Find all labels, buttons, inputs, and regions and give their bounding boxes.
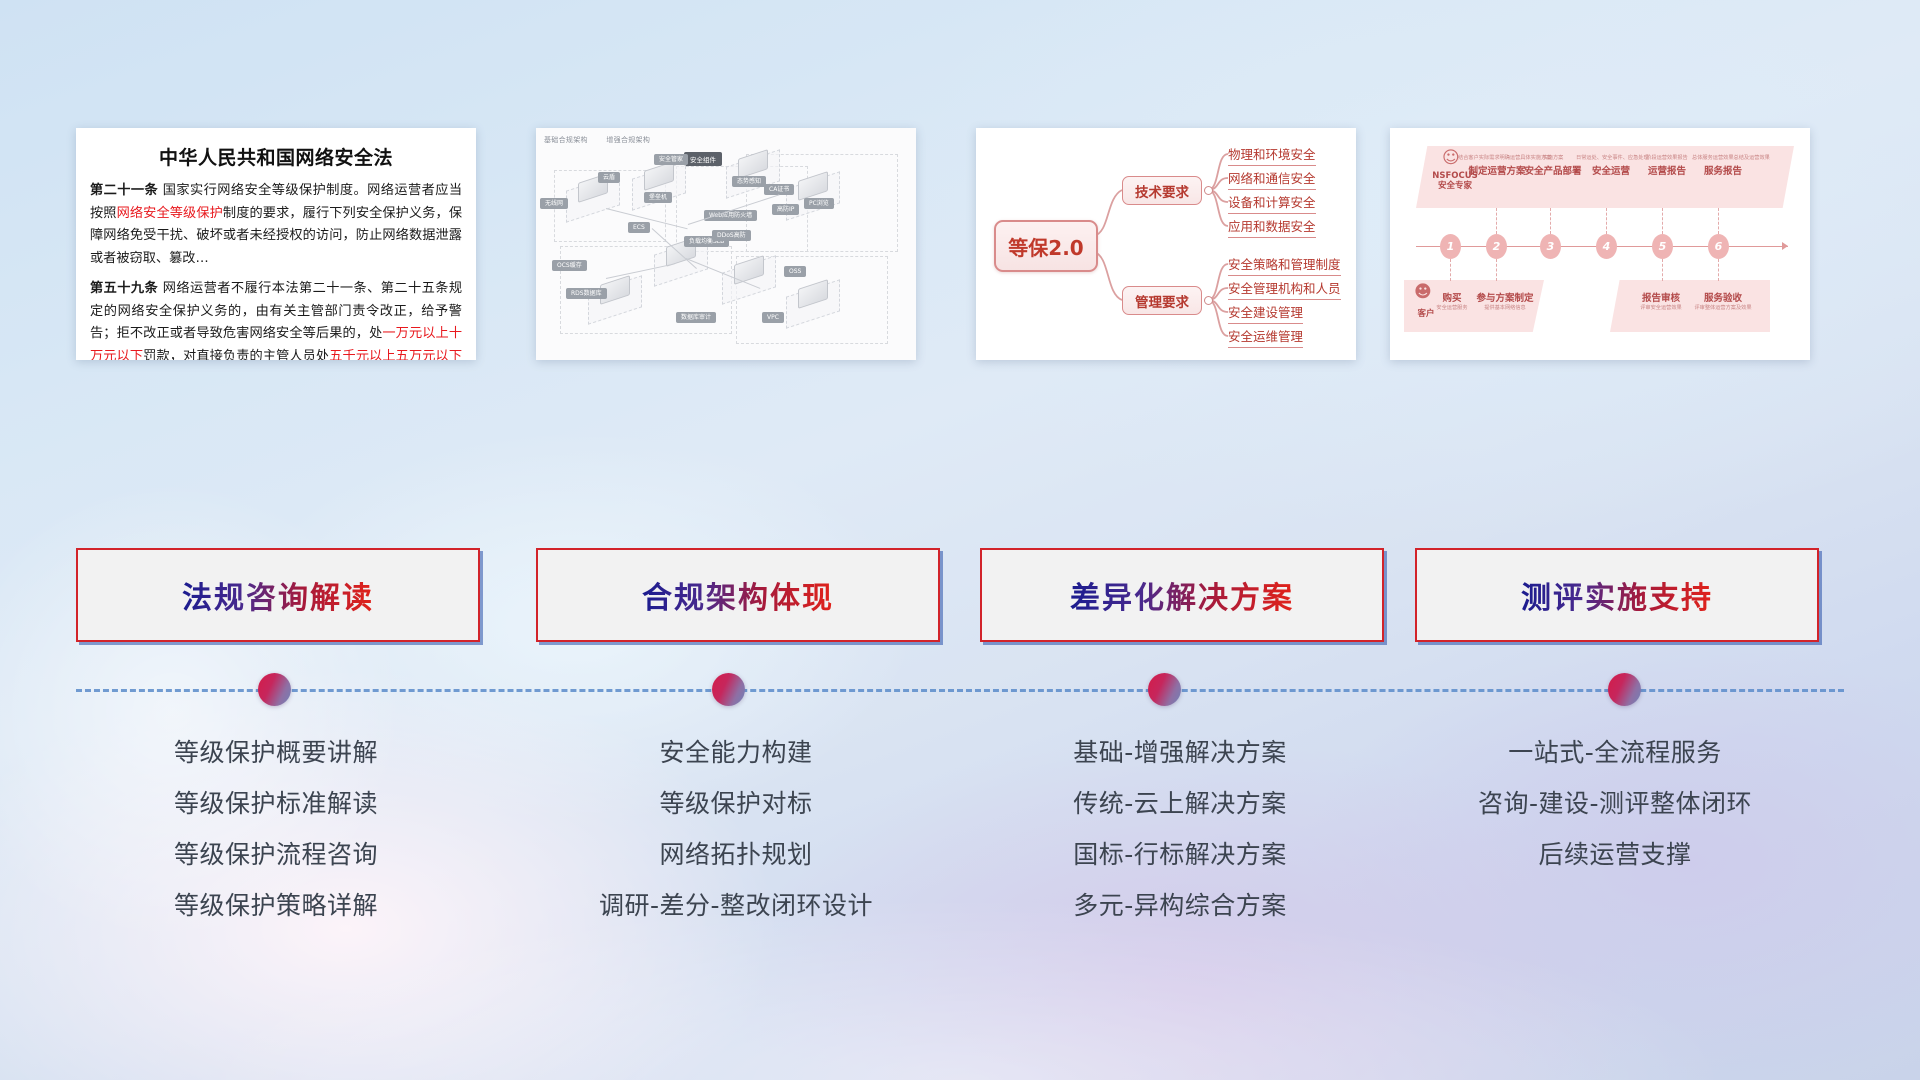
card-cybersecurity-law[interactable]: 中华人民共和国网络安全法 第二十一条 国家实行网络安全等级保护制度。网络运营者应…	[76, 128, 476, 360]
mindmap-leaf-build: 安全建设管理	[1228, 302, 1303, 324]
process-top-step-6-title: 服务报告	[1692, 163, 1754, 177]
mindmap-canvas: 等保2.0 技术要求 管理要求 物理和环境安全 网络和通信安全 设备和计算安全 …	[976, 128, 1356, 360]
law-body: 中华人民共和国网络安全法 第二十一条 国家实行网络安全等级保护制度。网络运营者应…	[76, 128, 476, 360]
headline-label-regulation: 法规咨询解读	[182, 573, 374, 617]
image-card-row: 中华人民共和国网络安全法 第二十一条 国家实行网络安全等级保护制度。网络运营者应…	[0, 128, 1920, 360]
process-top-step-5-sub: 阶段运营效果报告	[1636, 154, 1698, 161]
process-dash-b2	[1496, 259, 1497, 281]
process-node-6: 6	[1708, 234, 1729, 259]
arch-header-basic: 基础合规架构	[544, 136, 588, 144]
list-item: 基础-增强解决方案	[980, 740, 1380, 765]
process-canvas: ☺ NSFOCUS 安全专家 ☻ 客户 1 2 3 4 5 6	[1390, 128, 1810, 360]
timeline-dashed-line	[76, 689, 1844, 692]
mindmap-collapse-icon-management[interactable]	[1204, 296, 1213, 305]
process-dash-5	[1662, 208, 1663, 234]
card-nsfocus-process[interactable]: ☺ NSFOCUS 安全专家 ☻ 客户 1 2 3 4 5 6	[1390, 128, 1810, 360]
article-59-label: 第五十九条	[90, 281, 158, 296]
mindmap-leaf-device: 设备和计算安全	[1228, 192, 1316, 214]
arch-header-enhanced: 增强合规架构	[606, 136, 650, 144]
process-bottom-step-5-title: 报告审核	[1630, 290, 1692, 304]
detail-columns: 等级保护概要讲解 等级保护标准解读 等级保护流程咨询 等级保护策略详解 安全能力…	[0, 740, 1920, 960]
list-item: 一站式-全流程服务	[1415, 740, 1815, 765]
process-node-3: 3	[1540, 234, 1561, 259]
mindmap-leaf-application: 应用和数据安全	[1228, 216, 1316, 238]
article-59-mid: 罚款，对直接负责的主管人员处	[143, 349, 329, 360]
detail-column-regulation: 等级保护概要讲解 等级保护标准解读 等级保护流程咨询 等级保护策略详解	[76, 740, 476, 944]
headline-label-assessment: 测评实施支持	[1521, 573, 1713, 617]
headline-row: 法规咨询解读 合规架构体现 差异化解决方案 测评实施支持	[0, 548, 1920, 640]
headline-box-assessment[interactable]: 测评实施支持	[1415, 548, 1819, 642]
timeline-dot-1[interactable]	[258, 673, 291, 706]
process-bottom-step-5: 报告审核 评审安全运营效果	[1630, 290, 1692, 313]
mindmap-leaf-policy: 安全策略和管理制度	[1228, 254, 1341, 276]
arch-tag-ecs: ECS	[628, 222, 650, 233]
process-bottom-step-2-title: 参与方案制定	[1472, 290, 1538, 304]
process-dash-b6	[1718, 259, 1719, 281]
arch-tag-oss: OSS	[784, 266, 806, 277]
process-bottom-step-6-title: 服务验收	[1690, 290, 1756, 304]
arch-tag-pc: PC浏览	[804, 198, 834, 209]
arch-tag-rds: RDS数据库	[566, 288, 607, 299]
architecture-header-labels: 基础合规架构 增强合规架构	[544, 135, 666, 145]
card-architecture-diagram[interactable]: 基础合规架构 增强合规架构 安全组件	[536, 128, 916, 360]
process-axis-arrow-icon	[1782, 242, 1788, 250]
arch-tag-ocs: OCS缓存	[552, 260, 587, 271]
list-item: 咨询-建设-测评整体闭环	[1415, 791, 1815, 816]
architecture-canvas: 基础合规架构 增强合规架构 安全组件	[536, 128, 916, 360]
mindmap-leaf-network: 网络和通信安全	[1228, 168, 1316, 190]
arch-tag-ddos: DDoS高防	[712, 230, 751, 241]
process-dash-3	[1550, 208, 1551, 234]
timeline	[0, 662, 1920, 718]
law-paragraph-59: 第五十九条 网络运营者不履行本法第二十一条、第二十五条规定的网络安全保护义务的，…	[90, 278, 462, 360]
headline-box-solution[interactable]: 差异化解决方案	[980, 548, 1384, 642]
list-item: 国标-行标解决方案	[980, 842, 1380, 867]
list-item: 安全能力构建	[536, 740, 936, 765]
timeline-dot-4[interactable]	[1608, 673, 1641, 706]
list-item: 多元-异构综合方案	[980, 893, 1380, 918]
list-item: 等级保护概要讲解	[76, 740, 476, 765]
article-21-label: 第二十一条	[90, 183, 158, 198]
timeline-dot-2[interactable]	[712, 673, 745, 706]
mindmap-branch-management: 管理要求	[1122, 286, 1202, 315]
process-dash-2	[1496, 208, 1497, 234]
list-item: 传统-云上解决方案	[980, 791, 1380, 816]
mindmap-collapse-icon-technical[interactable]	[1204, 186, 1213, 195]
detail-column-solution: 基础-增强解决方案 传统-云上解决方案 国标-行标解决方案 多元-异构综合方案	[980, 740, 1380, 944]
mindmap-branch-technical: 技术要求	[1122, 176, 1202, 205]
card-mindmap-dengbao[interactable]: 等保2.0 技术要求 管理要求 物理和环境安全 网络和通信安全 设备和计算安全 …	[976, 128, 1356, 360]
arch-tag-bastion: 堡垒机	[644, 192, 672, 203]
process-node-2: 2	[1486, 234, 1507, 259]
process-dash-b5	[1662, 259, 1663, 281]
list-item: 等级保护标准解读	[76, 791, 476, 816]
process-dash-4	[1606, 208, 1607, 234]
law-paragraph-21: 第二十一条 国家实行网络安全等级保护制度。网络运营者应当按照网络安全等级保护制度…	[90, 180, 462, 271]
process-bottom-step-2: 参与方案制定 提供基本网络信息	[1472, 290, 1538, 313]
process-bottom-step-5-sub: 评审安全运营效果	[1630, 304, 1692, 311]
timeline-dot-3[interactable]	[1148, 673, 1181, 706]
process-node-5: 5	[1652, 234, 1673, 259]
process-bottom-step-6-sub: 评审整体运营方案及效果	[1690, 304, 1756, 311]
detail-column-assessment: 一站式-全流程服务 咨询-建设-测评整体闭环 后续运营支撑	[1415, 740, 1815, 893]
arch-tag-security-mgr: 安全管家	[654, 154, 688, 165]
process-top-step-5: 阶段运营效果报告 运营报告	[1636, 154, 1698, 177]
arch-badge-security-component: 安全组件	[684, 152, 722, 166]
arch-tag-wireless: 无线网	[540, 198, 568, 209]
process-node-4: 4	[1596, 234, 1617, 259]
article-59-highlight-2: 五千元以上五万元以下	[329, 349, 462, 360]
list-item: 网络拓扑规划	[536, 842, 936, 867]
process-bottom-step-1-title: 购买	[1430, 290, 1474, 304]
detail-column-architecture: 安全能力构建 等级保护对标 网络拓扑规划 调研-差分-整改闭环设计	[536, 740, 936, 944]
process-bottom-step-2-sub: 提供基本网络信息	[1472, 304, 1538, 311]
expert-label-line2: 安全专家	[1438, 181, 1472, 191]
process-top-step-6: 总体服务运营效果总结及运营效果 服务报告	[1692, 154, 1754, 177]
headline-box-architecture[interactable]: 合规架构体现	[536, 548, 940, 642]
process-bottom-step-1: 购买 安全运营服务	[1430, 290, 1474, 313]
law-title: 中华人民共和国网络安全法	[90, 143, 462, 170]
arch-tag-situation: 态势感知	[732, 176, 766, 187]
process-node-1: 1	[1440, 234, 1461, 259]
slide-stage: 中华人民共和国网络安全法 第二十一条 国家实行网络安全等级保护制度。网络运营者应…	[0, 0, 1920, 1080]
arch-tag-anti-ddos-ip: 高防IP	[772, 204, 799, 215]
arch-tag-cloud-shield: 云盾	[598, 172, 620, 183]
list-item: 等级保护流程咨询	[76, 842, 476, 867]
list-item: 等级保护策略详解	[76, 893, 476, 918]
process-top-step-5-title: 运营报告	[1636, 163, 1698, 177]
headline-label-solution: 差异化解决方案	[1070, 573, 1294, 617]
list-item: 调研-差分-整改闭环设计	[536, 893, 936, 918]
process-dash-b1	[1450, 259, 1451, 281]
arch-tag-vpc: VPC	[762, 312, 784, 323]
process-dash-6	[1718, 208, 1719, 234]
headline-box-regulation[interactable]: 法规咨询解读	[76, 548, 480, 642]
mindmap-leaf-physical: 物理和环境安全	[1228, 144, 1316, 166]
mindmap-leaf-org: 安全管理机构和人员	[1228, 278, 1341, 300]
mindmap-root-node: 等保2.0	[994, 220, 1098, 272]
process-top-step-6-sub: 总体服务运营效果总结及运营效果	[1692, 154, 1754, 161]
arch-tag-db-audit: 数据库审计	[676, 312, 716, 323]
headline-label-architecture: 合规架构体现	[642, 573, 834, 617]
process-bottom-step-1-sub: 安全运营服务	[1430, 304, 1474, 311]
process-bottom-step-6: 服务验收 评审整体运营方案及效果	[1690, 290, 1756, 313]
list-item: 后续运营支撑	[1415, 842, 1815, 867]
article-21-highlight: 网络安全等级保护	[117, 206, 223, 221]
mindmap-leaf-ops: 安全运维管理	[1228, 326, 1303, 348]
list-item: 等级保护对标	[536, 791, 936, 816]
